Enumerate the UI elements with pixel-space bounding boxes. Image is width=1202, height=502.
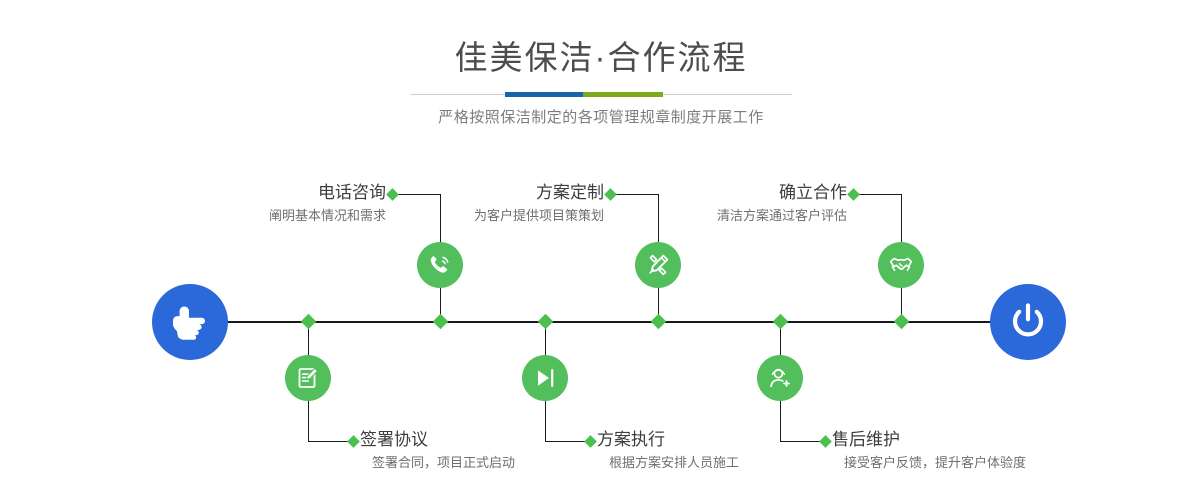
play-execute-icon <box>532 365 558 391</box>
divider-segment-blue <box>505 92 583 97</box>
phone-call-icon <box>427 252 453 278</box>
step-5-desc: 清洁方案通过客户评估 <box>548 206 847 226</box>
header: 佳美保洁·合作流程 严格按照保洁制定的各项管理规章制度开展工作 <box>0 0 1202 128</box>
timeline-end-endpoint <box>990 284 1066 360</box>
step-3-icon-node <box>635 242 681 288</box>
timeline-start-endpoint <box>152 284 228 360</box>
axis-node-2 <box>433 314 449 330</box>
power-icon <box>1007 301 1049 343</box>
step-5-icon-node <box>878 242 924 288</box>
step-6-label: 售后维护 接受客户反馈，提升客户体验度 <box>832 429 1132 473</box>
step-4-desc: 根据方案安排人员施工 <box>609 453 857 473</box>
flow-diagram-page: 佳美保洁·合作流程 严格按照保洁制定的各项管理规章制度开展工作 <box>0 0 1202 502</box>
axis-node-1 <box>301 314 317 330</box>
axis-node-5 <box>773 314 789 330</box>
step-5-connector-horizontal <box>854 194 902 195</box>
pointing-hand-icon <box>168 302 212 342</box>
step-4-title: 方案执行 <box>597 429 857 451</box>
axis-node-4 <box>651 314 667 330</box>
step-2-title: 签署协议 <box>360 429 620 451</box>
pencil-ruler-icon <box>645 252 671 278</box>
step-5-title: 确立合作 <box>548 182 847 204</box>
handshake-icon <box>888 252 914 278</box>
step-6-icon-node <box>757 355 803 401</box>
step-2-icon-node <box>285 355 331 401</box>
step-4-icon-node <box>522 355 568 401</box>
step-5-diamond <box>847 188 860 201</box>
axis-node-3 <box>538 314 554 330</box>
step-5-label: 确立合作 清洁方案通过客户评估 <box>548 182 847 226</box>
step-6-desc: 接受客户反馈，提升客户体验度 <box>844 453 1132 473</box>
step-2-label: 签署协议 签署合同，项目正式启动 <box>360 429 620 473</box>
step-2-desc: 签署合同，项目正式启动 <box>372 453 620 473</box>
axis-node-6 <box>894 314 910 330</box>
customer-support-icon <box>767 365 793 391</box>
step-2-diamond <box>347 435 360 448</box>
divider-segment-green <box>583 92 663 97</box>
document-edit-icon <box>295 365 321 391</box>
step-1-icon-node <box>417 242 463 288</box>
page-title: 佳美保洁·合作流程 <box>0 0 1202 78</box>
title-divider <box>410 92 792 97</box>
page-subtitle: 严格按照保洁制定的各项管理规章制度开展工作 <box>0 97 1202 128</box>
process-timeline: 电话咨询 阐明基本情况和需求 签署协议 签署合同，项目正式启动 <box>0 150 1202 502</box>
step-6-title: 售后维护 <box>832 429 1132 451</box>
step-4-label: 方案执行 根据方案安排人员施工 <box>597 429 857 473</box>
